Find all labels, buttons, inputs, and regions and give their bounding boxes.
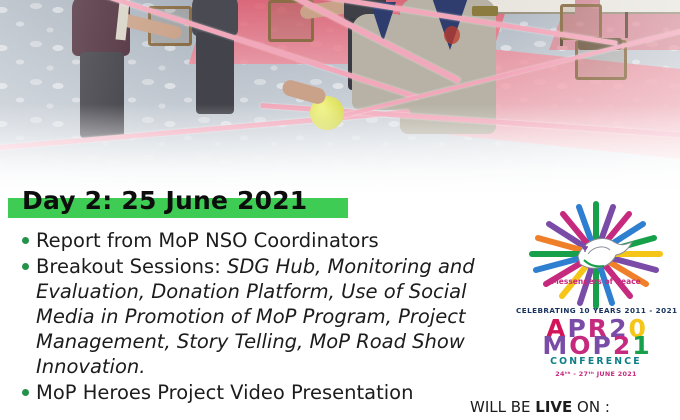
list-item: Report from MoP NSO Coordinators bbox=[22, 228, 502, 253]
bullet-dot-icon bbox=[22, 389, 29, 396]
emblem-caption: Messengers of Peace bbox=[551, 277, 640, 286]
logo-letter-p2: P bbox=[593, 334, 611, 357]
list-item: MoP Heroes Project Video Presentation bbox=[22, 380, 502, 405]
logo-letter-m: M bbox=[542, 334, 567, 357]
logo-conference-text: CONFERENCE bbox=[516, 356, 676, 367]
day-title-block: Day 2: 25 June 2021 bbox=[8, 186, 307, 215]
agenda-list: Report from MoP NSO Coordinators Breakou… bbox=[22, 228, 502, 406]
logo-line-mop: M O P 2 1 bbox=[516, 334, 676, 357]
page-title: Day 2: 25 June 2021 bbox=[8, 186, 307, 215]
event-poster: Day 2: 25 June 2021 Report from MoP NSO … bbox=[0, 0, 680, 420]
live-notice-suffix: ON : bbox=[572, 398, 610, 416]
logo-year-1: 1 bbox=[632, 334, 649, 357]
bullet-dot-icon bbox=[22, 263, 29, 270]
agenda-item-text: Breakout Sessions: SDG Hub, Monitoring a… bbox=[36, 254, 502, 379]
live-notice: WILL BE LIVE ON : bbox=[470, 398, 610, 416]
logo-letter-o: O bbox=[569, 334, 590, 357]
agenda-item-lead: Breakout Sessions: bbox=[36, 255, 227, 278]
photo-bottom-fade bbox=[0, 0, 680, 200]
live-notice-prefix: WILL BE bbox=[470, 398, 535, 416]
list-item: Breakout Sessions: SDG Hub, Monitoring a… bbox=[22, 254, 502, 379]
banner-photo bbox=[0, 0, 680, 200]
agenda-item-text: Report from MoP NSO Coordinators bbox=[36, 228, 379, 253]
bullet-dot-icon bbox=[22, 237, 29, 244]
agenda-item-text: MoP Heroes Project Video Presentation bbox=[36, 380, 413, 405]
live-notice-emphasis: LIVE bbox=[535, 398, 572, 416]
logo-wordmark: CELEBRATING 10 YEARS 2011 - 2021 A P R 2… bbox=[516, 306, 676, 378]
messengers-of-peace-sunburst-icon: Messengers of Peace bbox=[522, 198, 670, 310]
logo-year-2b: 2 bbox=[613, 334, 630, 357]
apr-mop-conference-logo: Messengers of Peace CELEBRATING 10 YEARS… bbox=[516, 198, 676, 390]
logo-dates: 24ᵗʰ - 27ᵗʰ JUNE 2021 bbox=[516, 370, 676, 378]
